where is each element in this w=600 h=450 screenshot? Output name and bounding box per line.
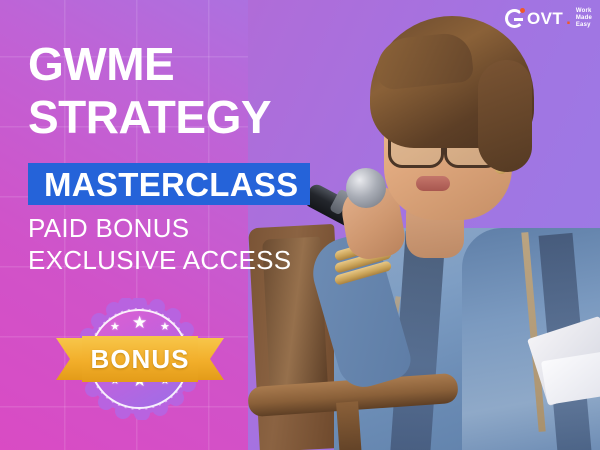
logo-tagline-line-2: Made <box>576 15 592 22</box>
promo-banner: OVT . Work Made Easy GWME STRATEGY MASTE… <box>0 0 600 450</box>
badge-star-icon: ★ <box>160 322 170 333</box>
headline-line-2: STRATEGY <box>28 91 368 144</box>
bonus-badge-label: BONUS <box>56 336 224 382</box>
logo-tagline: Work Made Easy <box>576 8 592 29</box>
badge-star-icon: ★ <box>110 322 120 333</box>
logo-wordmark: OVT <box>527 9 563 29</box>
badge-star-icon: ★ <box>132 314 147 331</box>
logo-tagline-line-3: Easy <box>576 22 592 29</box>
logo-period: . <box>566 9 571 29</box>
headline-block: GWME STRATEGY <box>28 38 368 144</box>
logo-tagline-line-1: Work <box>576 8 592 15</box>
govt-logo[interactable]: OVT . Work Made Easy <box>505 8 592 29</box>
masterclass-label: MASTERCLASS <box>44 168 298 201</box>
chair-arm-post <box>336 401 362 450</box>
bonus-badge: ★ ★ ★ ★ ★ ★ BONUS <box>56 298 224 420</box>
subheading-paid-bonus: PAID BONUS <box>28 213 189 244</box>
papers-held-second-sheet <box>541 351 600 405</box>
speaker-hair-side <box>478 60 532 172</box>
masterclass-highlight: MASTERCLASS <box>28 163 310 205</box>
subheading-exclusive-access: EXCLUSIVE ACCESS <box>28 245 291 276</box>
microphone-head <box>346 168 386 208</box>
headline-line-1: GWME <box>28 38 368 91</box>
speaker-lips <box>416 176 450 191</box>
govt-g-mark-icon <box>505 9 524 28</box>
